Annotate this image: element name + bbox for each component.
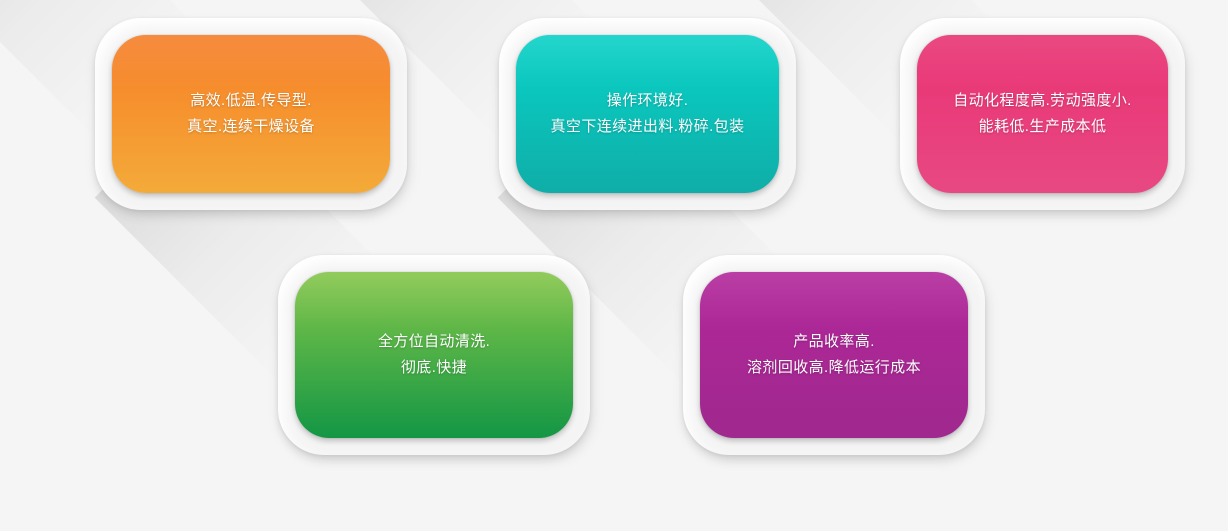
card-automation-level-frame[interactable]: 自动化程度高.劳动强度小.能耗低.生产成本低 bbox=[900, 18, 1185, 210]
card-high-efficiency-drying-panel[interactable]: 高效.低温.传导型.真空.连续干燥设备 bbox=[112, 35, 390, 193]
card-automatic-cleaning-text: 全方位自动清洗.彻底.快捷 bbox=[362, 329, 506, 382]
card-automatic-cleaning-frame[interactable]: 全方位自动清洗.彻底.快捷 bbox=[278, 255, 590, 455]
card-product-yield-line1: 产品收率高. bbox=[793, 333, 875, 350]
card-automation-level-text: 自动化程度高.劳动强度小.能耗低.生产成本低 bbox=[937, 88, 1148, 141]
card-operating-environment-frame[interactable]: 操作环境好.真空下连续进出料.粉碎.包装 bbox=[499, 18, 796, 210]
card-automation-level-panel[interactable]: 自动化程度高.劳动强度小.能耗低.生产成本低 bbox=[917, 35, 1168, 193]
card-product-yield-line2: 溶剂回收高.降低运行成本 bbox=[747, 355, 921, 381]
card-automation-level-line2: 能耗低.生产成本低 bbox=[953, 114, 1132, 140]
card-product-yield-panel[interactable]: 产品收率高.溶剂回收高.降低运行成本 bbox=[700, 272, 968, 438]
card-high-efficiency-drying-line2: 真空.连续干燥设备 bbox=[187, 114, 315, 140]
card-operating-environment-line2: 真空下连续进出料.粉碎.包装 bbox=[551, 114, 745, 140]
feature-card-board: 高效.低温.传导型.真空.连续干燥设备操作环境好.真空下连续进出料.粉碎.包装自… bbox=[0, 0, 1228, 531]
card-operating-environment-text: 操作环境好.真空下连续进出料.粉碎.包装 bbox=[535, 88, 761, 141]
card-high-efficiency-drying-line1: 高效.低温.传导型. bbox=[190, 92, 312, 109]
card-product-yield-text: 产品收率高.溶剂回收高.降低运行成本 bbox=[731, 329, 937, 382]
card-high-efficiency-drying-text: 高效.低温.传导型.真空.连续干燥设备 bbox=[171, 88, 331, 141]
card-automatic-cleaning-line2: 彻底.快捷 bbox=[378, 355, 490, 381]
card-product-yield-frame[interactable]: 产品收率高.溶剂回收高.降低运行成本 bbox=[683, 255, 985, 455]
card-operating-environment-panel[interactable]: 操作环境好.真空下连续进出料.粉碎.包装 bbox=[516, 35, 779, 193]
card-automatic-cleaning-panel[interactable]: 全方位自动清洗.彻底.快捷 bbox=[295, 272, 573, 438]
card-automatic-cleaning-line1: 全方位自动清洗. bbox=[378, 333, 490, 350]
card-high-efficiency-drying-frame[interactable]: 高效.低温.传导型.真空.连续干燥设备 bbox=[95, 18, 407, 210]
card-automation-level-line1: 自动化程度高.劳动强度小. bbox=[953, 92, 1132, 109]
card-operating-environment-line1: 操作环境好. bbox=[607, 92, 689, 109]
